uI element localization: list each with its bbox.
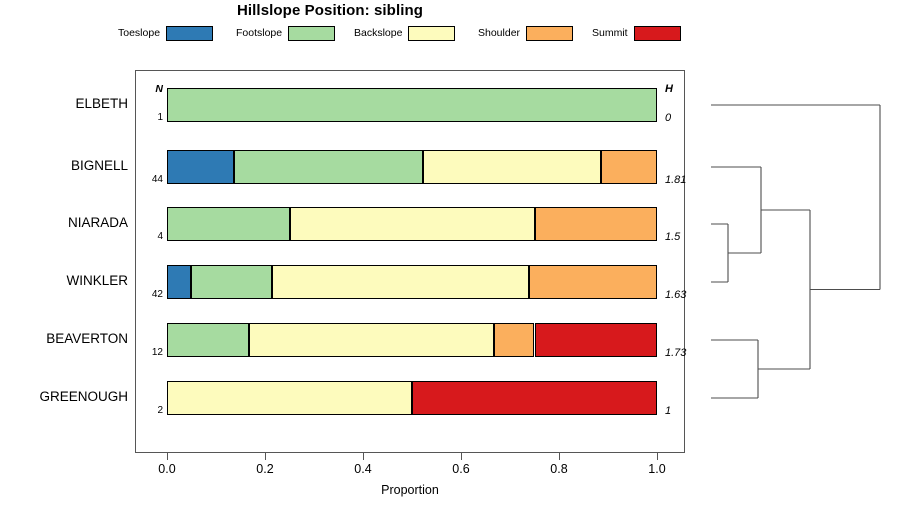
y-axis-label-niarada: NIARADA bbox=[3, 215, 128, 230]
bar-segment-backslope bbox=[272, 265, 529, 299]
x-tick-mark bbox=[461, 453, 462, 460]
n-value-greenough: 2 bbox=[141, 405, 163, 416]
bar-row bbox=[167, 323, 657, 357]
n-value-winkler: 42 bbox=[141, 289, 163, 300]
bar-segment-shoulder bbox=[494, 323, 535, 357]
bar-segment-backslope bbox=[167, 381, 412, 415]
h-value-beaverton: 1.73 bbox=[665, 347, 705, 359]
legend-item-backslope: Backslope bbox=[354, 24, 455, 42]
legend-label: Footslope bbox=[236, 27, 282, 39]
x-tick-mark bbox=[265, 453, 266, 460]
x-tick-label: 0.4 bbox=[343, 462, 383, 476]
bar-segment-footslope bbox=[234, 150, 423, 184]
legend-swatch-toeslope bbox=[166, 26, 213, 41]
y-axis-label-winkler: WINKLER bbox=[3, 273, 128, 288]
bar-segment-footslope bbox=[167, 207, 290, 241]
legend-item-summit: Summit bbox=[592, 24, 681, 42]
bar-segment-toeslope bbox=[167, 265, 191, 299]
h-value-greenough: 1 bbox=[665, 405, 705, 417]
legend-item-toeslope: Toeslope bbox=[118, 24, 213, 42]
h-value-niarada: 1.5 bbox=[665, 231, 705, 243]
bar-segment-shoulder bbox=[529, 265, 657, 299]
x-tick-label: 0.8 bbox=[539, 462, 579, 476]
x-tick-label: 0.0 bbox=[147, 462, 187, 476]
x-tick-label: 0.2 bbox=[245, 462, 285, 476]
bar-segment-footslope bbox=[191, 265, 272, 299]
n-value-bignell: 44 bbox=[141, 174, 163, 185]
legend-label: Toeslope bbox=[118, 27, 160, 39]
h-value-elbeth: 0 bbox=[665, 112, 705, 124]
bar-row bbox=[167, 381, 657, 415]
chart-canvas: Hillslope Position: sibling ToeslopeFoot… bbox=[0, 0, 900, 520]
bar-row bbox=[167, 88, 657, 122]
y-axis-label-beaverton: BEAVERTON bbox=[3, 331, 128, 346]
n-value-niarada: 4 bbox=[141, 231, 163, 242]
h-value-winkler: 1.63 bbox=[665, 289, 705, 301]
legend-swatch-backslope bbox=[408, 26, 455, 41]
bar-row bbox=[167, 150, 657, 184]
h-value-bignell: 1.81 bbox=[665, 174, 705, 186]
x-tick-mark bbox=[559, 453, 560, 460]
legend-label: Summit bbox=[592, 27, 628, 39]
bar-row bbox=[167, 207, 657, 241]
bar-row bbox=[167, 265, 657, 299]
bar-segment-footslope bbox=[167, 323, 249, 357]
bar-segment-toeslope bbox=[167, 150, 234, 184]
x-tick-mark bbox=[363, 453, 364, 460]
bar-segment-backslope bbox=[423, 150, 601, 184]
bar-segment-summit bbox=[535, 323, 658, 357]
x-tick-mark bbox=[167, 453, 168, 460]
y-axis-label-elbeth: ELBETH bbox=[3, 96, 128, 111]
legend-item-shoulder: Shoulder bbox=[478, 24, 573, 42]
bar-segment-shoulder bbox=[601, 150, 657, 184]
x-axis-title: Proportion bbox=[135, 483, 685, 497]
page-title: Hillslope Position: sibling bbox=[0, 2, 660, 19]
legend-item-footslope: Footslope bbox=[236, 24, 335, 42]
bar-segment-shoulder bbox=[535, 207, 658, 241]
x-tick-label: 1.0 bbox=[637, 462, 677, 476]
dendrogram bbox=[700, 60, 900, 460]
bar-segment-summit bbox=[412, 381, 657, 415]
y-axis-label-bignell: BIGNELL bbox=[3, 158, 128, 173]
h-column-header: H bbox=[665, 83, 705, 95]
legend: ToeslopeFootslopeBackslopeShoulderSummit bbox=[118, 24, 708, 42]
legend-swatch-footslope bbox=[288, 26, 335, 41]
x-tick-mark bbox=[657, 453, 658, 460]
legend-label: Backslope bbox=[354, 27, 402, 39]
bar-segment-footslope bbox=[167, 88, 657, 122]
y-axis-label-greenough: GREENOUGH bbox=[3, 389, 128, 404]
legend-swatch-summit bbox=[634, 26, 681, 41]
x-tick-label: 0.6 bbox=[441, 462, 481, 476]
x-axis: Proportion 0.00.20.40.60.81.0 bbox=[135, 453, 685, 513]
bar-segment-backslope bbox=[290, 207, 535, 241]
legend-label: Shoulder bbox=[478, 27, 520, 39]
legend-swatch-shoulder bbox=[526, 26, 573, 41]
bar-segment-backslope bbox=[249, 323, 494, 357]
n-value-beaverton: 12 bbox=[141, 347, 163, 358]
n-value-elbeth: 1 bbox=[141, 112, 163, 123]
n-column-header: N bbox=[141, 83, 163, 95]
